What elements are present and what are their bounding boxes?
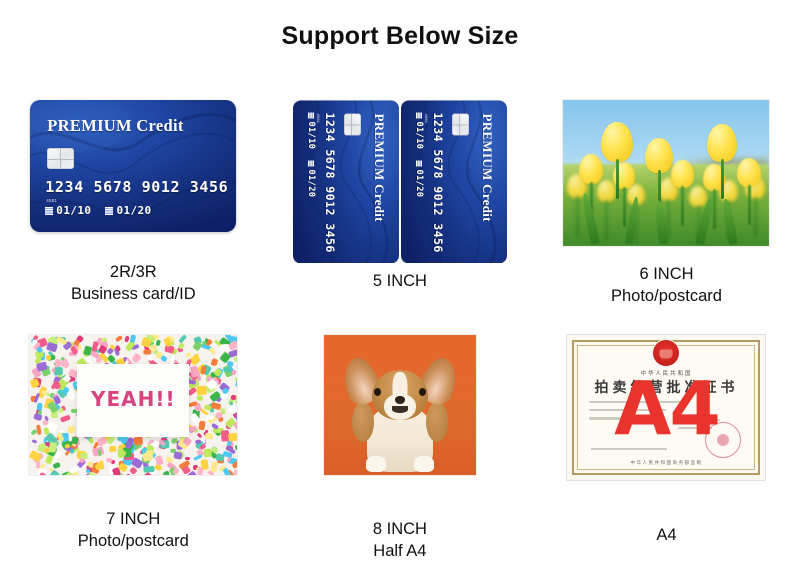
card-chip-icon (47, 148, 74, 169)
confetti-piece (34, 413, 43, 421)
size-item-business-card-id[interactable]: PREMIUM Credit 1234 5678 9012 3456 4581 … (0, 100, 267, 335)
a4-overlay-text: A4 (614, 372, 719, 446)
corgi-nose (395, 396, 405, 404)
card-brand-label: PREMIUM Credit (47, 116, 183, 136)
card-date-icon-from (416, 112, 422, 118)
card-valid-thru: 01/20 (414, 169, 424, 197)
confetti-piece (234, 469, 238, 474)
corgi-shoulder-left (352, 402, 374, 442)
confetti-piece (198, 421, 206, 431)
card-brand-label: PREMIUM Credit (371, 113, 387, 221)
certificate-photo-image: 中华人民共和国 拍卖经营批准证书 中华人民共和国商务部监制 A4 (567, 335, 765, 480)
card-valid-from: 01/10 (56, 204, 91, 217)
confetti-piece (116, 335, 123, 342)
credit-card-rotated-left: PREMIUM Credit 1234 5678 9012 3456 4581 … (293, 100, 399, 263)
business-card-media: PREMIUM Credit 1234 5678 9012 3456 4581 … (0, 100, 267, 276)
confetti-piece (155, 464, 163, 471)
confetti-piece (197, 467, 203, 475)
confetti-piece (55, 367, 63, 375)
five-inch-media: PREMIUM Credit 1234 5678 9012 3456 4581 … (267, 100, 534, 276)
corgi-mouth (392, 406, 408, 413)
card-dates: 01/10 01/20 (414, 112, 424, 197)
size-item-seven-inch[interactable]: YEAH!! 7 INCH Photo/postcard (0, 335, 267, 570)
confetti-piece (160, 355, 167, 362)
card-date-icon-thru (105, 207, 113, 215)
confetti-piece (125, 473, 131, 475)
confetti-piece (204, 404, 212, 411)
card-brand-label: PREMIUM Credit (479, 113, 495, 221)
card-number: 1234 5678 9012 3456 (431, 112, 445, 252)
corgi-shoulder-right (426, 402, 448, 442)
card-valid-from: 01/10 (306, 121, 316, 149)
confetti-piece (210, 358, 218, 366)
confetti-piece (204, 433, 213, 440)
card-date-icon-thru (308, 160, 314, 166)
confetti-piece (129, 335, 136, 343)
size-caption-eight-inch: 8 INCH Half A4 (373, 519, 427, 563)
confetti-card-text: YEAH!! (77, 387, 189, 411)
credit-card-rotated-right: PREMIUM Credit 1234 5678 9012 3456 4581 … (401, 100, 507, 263)
a4-media: 中华人民共和国 拍卖经营批准证书 中华人民共和国商务部监制 A4 (533, 335, 800, 511)
confetti-piece (208, 347, 216, 355)
corgi-puppy (348, 354, 452, 472)
corgi-eye-left (374, 388, 381, 396)
card-date-icon-thru (416, 160, 422, 166)
seven-inch-media: YEAH!! (0, 335, 267, 511)
confetti-piece (197, 386, 207, 395)
confetti-piece (134, 437, 144, 446)
confetti-piece (210, 462, 218, 473)
confetti-piece (143, 349, 151, 354)
confetti-piece (60, 414, 72, 422)
confetti-piece (231, 370, 236, 375)
card-chip-icon (452, 113, 469, 135)
card-date-icon-from (45, 207, 53, 215)
tulips-photo-image (563, 100, 769, 246)
confetti-piece (52, 462, 61, 470)
confetti-piece (132, 353, 142, 363)
confetti-photo-image: YEAH!! (29, 335, 237, 475)
tulip-bloom (579, 154, 603, 184)
confetti-piece (32, 439, 38, 444)
card-tiny-label: 4581 (46, 198, 57, 203)
national-emblem-icon (653, 340, 679, 366)
eight-inch-media (267, 335, 534, 511)
tulip-bloom (689, 186, 707, 207)
confetti-piece (173, 451, 182, 460)
confetti-white-card: YEAH!! (77, 364, 189, 437)
size-item-a4[interactable]: 中华人民共和国 拍卖经营批准证书 中华人民共和国商务部监制 A4 A4 (533, 335, 800, 570)
tulip-bloom (737, 158, 761, 187)
confetti-piece (186, 352, 191, 358)
certificate-footer-line: 中华人民共和国商务部监制 (567, 460, 765, 466)
confetti-piece (36, 424, 41, 435)
confetti-piece (233, 356, 237, 363)
card-tiny-label: 4581 (424, 113, 429, 123)
credit-card-pair-image: PREMIUM Credit 1234 5678 9012 3456 4581 … (293, 100, 507, 268)
card-valid-thru: 01/20 (306, 169, 316, 197)
six-inch-media (533, 100, 800, 276)
confetti-piece (142, 452, 151, 462)
size-caption-seven-inch: 7 INCH Photo/postcard (78, 509, 189, 553)
card-valid-thru: 01/20 (116, 204, 151, 217)
confetti-piece (55, 358, 61, 367)
size-item-six-inch[interactable]: 6 INCH Photo/postcard (533, 100, 800, 335)
confetti-piece (97, 449, 101, 456)
corgi-paw-right (414, 456, 434, 472)
confetti-piece (67, 426, 76, 434)
confetti-piece (144, 465, 155, 472)
corgi-photo-image (324, 335, 476, 475)
card-dates: 01/10 01/20 (306, 112, 316, 197)
confetti-piece (69, 448, 75, 454)
confetti-piece (151, 345, 157, 351)
confetti-piece (109, 446, 117, 452)
card-date-icon-from (308, 112, 314, 118)
credit-card-image: PREMIUM Credit 1234 5678 9012 3456 4581 … (30, 100, 236, 232)
confetti-piece (228, 433, 237, 442)
card-valid-from: 01/10 (414, 121, 424, 149)
card-chip-icon (344, 113, 361, 135)
card-tiny-label: 4581 (316, 113, 321, 123)
confetti-piece (33, 393, 40, 403)
confetti-piece (88, 437, 94, 444)
confetti-piece (230, 394, 236, 400)
tulip-bloom (671, 160, 694, 188)
confetti-piece (196, 395, 203, 401)
size-item-eight-inch[interactable]: 8 INCH Half A4 (267, 335, 534, 570)
card-number: 1234 5678 9012 3456 (323, 112, 337, 252)
size-caption-a4: A4 (656, 525, 676, 547)
corgi-eye-right (419, 388, 426, 396)
size-item-five-inch[interactable]: PREMIUM Credit 1234 5678 9012 3456 4581 … (267, 100, 534, 335)
size-grid: PREMIUM Credit 1234 5678 9012 3456 4581 … (0, 100, 800, 570)
card-number: 1234 5678 9012 3456 (45, 178, 228, 196)
confetti-piece (80, 453, 88, 459)
confetti-piece (173, 467, 180, 475)
corgi-paw-left (366, 456, 386, 472)
confetti-piece (219, 343, 229, 351)
confetti-piece (45, 454, 53, 464)
page-title: Support Below Size (0, 22, 800, 51)
card-dates: 01/10 01/20 (45, 204, 151, 217)
